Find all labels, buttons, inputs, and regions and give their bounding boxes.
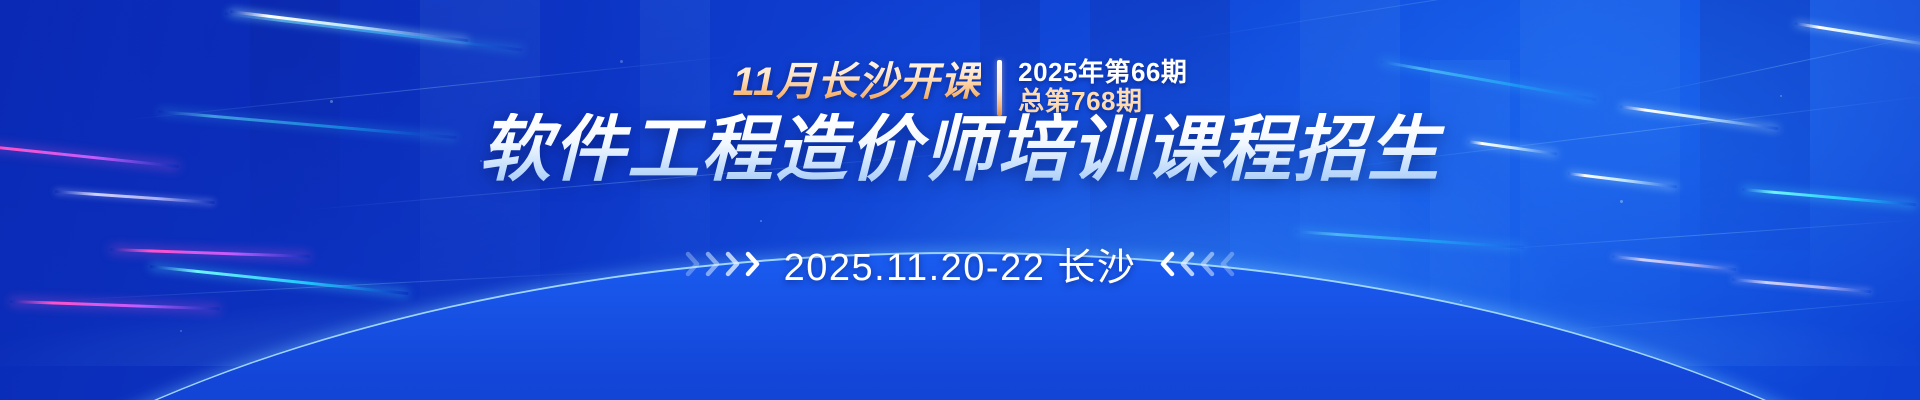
left-chevron-group	[685, 251, 762, 277]
headline-title: 软件工程造价师培训课程招生	[0, 113, 1920, 189]
chevron-right-icon	[745, 251, 762, 277]
kicker-text: 11月长沙开课	[733, 56, 982, 102]
issue-line-1: 2025年第66期	[1018, 58, 1187, 87]
vertical-divider	[997, 60, 1002, 116]
chevron-right-icon	[685, 251, 702, 277]
kicker-row: 11月长沙开课 2025年第66期 总第768期	[0, 56, 1920, 116]
issue-block: 2025年第66期 总第768期	[1018, 56, 1187, 116]
chevron-left-icon	[1218, 251, 1235, 277]
chevron-left-icon	[1158, 251, 1175, 277]
chevron-left-icon	[1198, 251, 1215, 277]
right-chevron-group	[1158, 251, 1235, 277]
promo-banner: 11月长沙开课 2025年第66期 总第768期 软件工程造价师培训课程招生	[0, 0, 1920, 400]
chevron-right-icon	[725, 251, 742, 277]
dateline-row: 2025.11.20-22 长沙	[0, 236, 1920, 291]
chevron-left-icon	[1178, 251, 1195, 277]
date-location-text: 2025.11.20-22 长沙	[784, 236, 1137, 291]
chevron-right-icon	[705, 251, 722, 277]
